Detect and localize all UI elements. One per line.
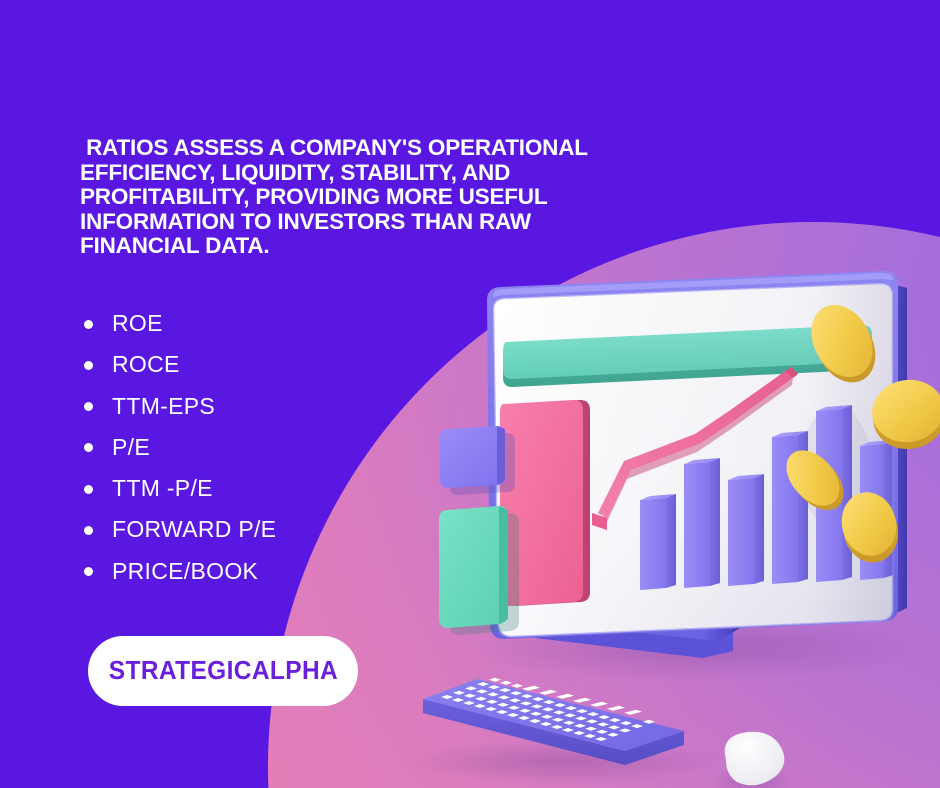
list-item[interactable]: ROCE [80, 344, 380, 385]
bullet-dot-icon [84, 443, 93, 452]
infographic-canvas: RATIOS ASSESS A COMPANY'S OPERATIONAL EF… [0, 0, 940, 788]
bullet-dot-icon [84, 526, 93, 535]
list-item[interactable]: PRICE/BOOK [80, 551, 380, 592]
page-title: RATIOS ASSESS A COMPANY'S OPERATIONAL EF… [80, 136, 640, 259]
list-item-label: P/E [112, 434, 150, 460]
chart-bar [640, 494, 676, 590]
list-item-label: ROCE [112, 351, 180, 377]
list-item-label: PRICE/BOOK [112, 558, 258, 584]
mouse [710, 732, 794, 788]
brand-badge[interactable]: STRATEGICALPHA [88, 636, 358, 706]
bullet-dot-icon [84, 567, 93, 576]
list-item[interactable]: P/E [80, 427, 380, 468]
list-item-label: ROE [112, 310, 163, 336]
floating-tile-teal [439, 506, 519, 635]
list-item[interactable]: ROE [80, 303, 380, 344]
brand-name: STRATEGICALPHA [108, 657, 337, 686]
list-item[interactable]: TTM-EPS [80, 386, 380, 427]
floating-tile-purple [440, 426, 515, 495]
bullet-dot-icon [84, 402, 93, 411]
bullet-dot-icon [84, 485, 93, 494]
keyboard [400, 678, 720, 784]
bullet-dot-icon [84, 320, 93, 329]
list-item-label: FORWARD P/E [112, 516, 276, 542]
chart-bar [684, 458, 720, 588]
chart-bar [728, 474, 764, 586]
list-item[interactable]: TTM -P/E [80, 468, 380, 509]
bullet-dot-icon [84, 361, 93, 370]
list-item[interactable]: FORWARD P/E [80, 509, 380, 550]
financial-ratio-list: ROE ROCE TTM-EPS P/E TTM -P/E FORWARD P/… [80, 303, 380, 592]
list-item-label: TTM-EPS [112, 393, 215, 419]
list-item-label: TTM -P/E [112, 475, 213, 501]
